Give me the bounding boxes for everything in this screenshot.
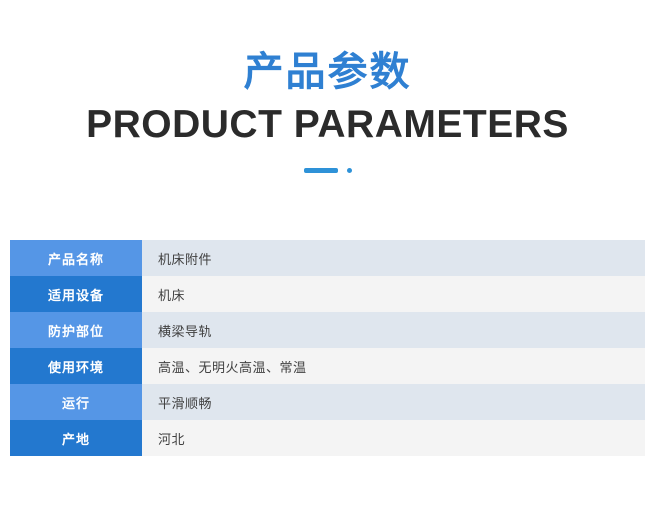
- spec-value: 机床: [142, 276, 645, 312]
- table-row: 产品名称 机床附件: [10, 240, 645, 276]
- divider-bar-icon: [304, 168, 338, 173]
- spec-label: 适用设备: [10, 276, 142, 312]
- spec-label: 产品名称: [10, 240, 142, 276]
- divider-dot-icon: [347, 168, 352, 173]
- page-title-chinese: 产品参数: [0, 48, 655, 96]
- spec-value: 平滑顺畅: [142, 384, 645, 420]
- spec-value: 河北: [142, 420, 645, 456]
- specification-table: 产品名称 机床附件 适用设备 机床 防护部位 横梁导轨 使用环境 高温、无明火高…: [10, 240, 645, 456]
- spec-label: 运行: [10, 384, 142, 420]
- specification-table-body: 产品名称 机床附件 适用设备 机床 防护部位 横梁导轨 使用环境 高温、无明火高…: [10, 240, 645, 456]
- spec-label: 使用环境: [10, 348, 142, 384]
- product-parameters-page: 产品参数 PRODUCT PARAMETERS 产品名称 机床附件 适用设备 机…: [0, 0, 655, 511]
- spec-value: 机床附件: [142, 240, 645, 276]
- table-row: 产地 河北: [10, 420, 645, 456]
- spec-label: 防护部位: [10, 312, 142, 348]
- table-row: 运行 平滑顺畅: [10, 384, 645, 420]
- spec-label: 产地: [10, 420, 142, 456]
- spec-value: 高温、无明火高温、常温: [142, 348, 645, 384]
- spec-value: 横梁导轨: [142, 312, 645, 348]
- table-row: 使用环境 高温、无明火高温、常温: [10, 348, 645, 384]
- page-header: 产品参数 PRODUCT PARAMETERS: [0, 0, 655, 174]
- table-row: 防护部位 横梁导轨: [10, 312, 645, 348]
- page-title-english: PRODUCT PARAMETERS: [0, 102, 655, 148]
- table-row: 适用设备 机床: [10, 276, 645, 312]
- title-divider: [0, 166, 655, 174]
